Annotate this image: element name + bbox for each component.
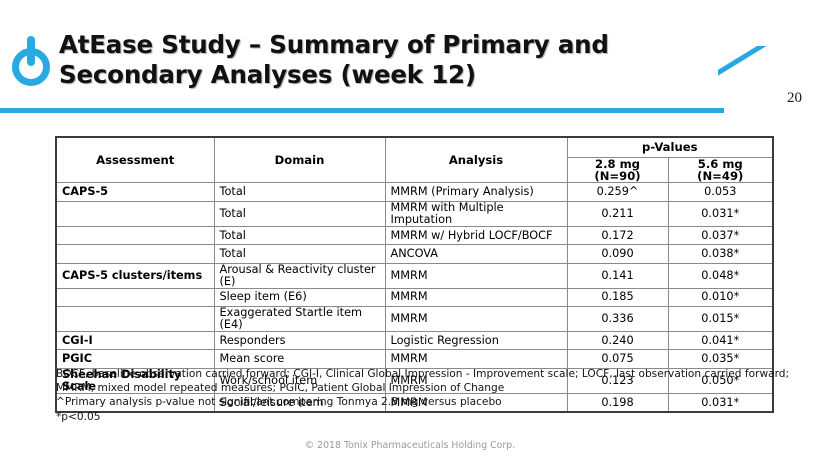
table-row: TotalMMRM with Multiple Imputation0.2110… — [56, 201, 773, 226]
table-header: Assessment Domain Analysis p-Values 2.8 … — [56, 137, 773, 183]
cell-pvalue-2-8mg: 0.141 — [567, 263, 668, 288]
column-header-analysis: Analysis — [385, 137, 567, 183]
cell-pvalue-5-6mg: 0.010* — [668, 288, 773, 307]
cell-pvalue-5-6mg: 0.035* — [668, 350, 773, 369]
cell-domain: Responders — [214, 331, 385, 350]
cell-assessment — [56, 288, 214, 307]
cell-pvalue-2-8mg: 0.336 — [567, 307, 668, 332]
cell-pvalue-2-8mg: 0.185 — [567, 288, 668, 307]
copyright-notice: © 2018 Tonix Pharmaceuticals Holding Cor… — [0, 440, 820, 451]
table-row: CAPS-5 clusters/itemsArousal & Reactivit… — [56, 263, 773, 288]
cell-domain: Total — [214, 245, 385, 264]
cell-pvalue-2-8mg: 0.172 — [567, 226, 668, 245]
cell-assessment: CGI-I — [56, 331, 214, 350]
cell-pvalue-5-6mg: 0.037* — [668, 226, 773, 245]
table-header-row-main: Assessment Domain Analysis p-Values — [56, 137, 773, 158]
footnotes: BOCF, baseline observation carried forwa… — [56, 367, 796, 424]
table-row: CGI-IRespondersLogistic Regression0.2400… — [56, 331, 773, 350]
cell-pvalue-2-8mg: 0.211 — [567, 201, 668, 226]
footnote-line: *p<0.05 — [56, 410, 796, 424]
cell-assessment — [56, 201, 214, 226]
cell-analysis: MMRM w/ Hybrid LOCF/BOCF — [385, 226, 567, 245]
table-row: Sleep item (E6)MMRM0.1850.010* — [56, 288, 773, 307]
cell-domain: Total — [214, 201, 385, 226]
cell-domain: Exaggerated Startle item (E4) — [214, 307, 385, 332]
cell-domain: Total — [214, 226, 385, 245]
column-header-assessment: Assessment — [56, 137, 214, 183]
cell-pvalue-5-6mg: 0.038* — [668, 245, 773, 264]
cell-analysis: MMRM — [385, 263, 567, 288]
header-accent-rule-diagonal-bar — [718, 46, 820, 79]
table-row: Exaggerated Startle item (E4)MMRM0.3360.… — [56, 307, 773, 332]
cell-pvalue-2-8mg: 0.240 — [567, 331, 668, 350]
cell-assessment: CAPS-5 — [56, 183, 214, 202]
cell-analysis: ANCOVA — [385, 245, 567, 264]
cell-domain: Mean score — [214, 350, 385, 369]
column-header-pvalues: p-Values — [567, 137, 773, 158]
cell-analysis: MMRM — [385, 288, 567, 307]
cell-pvalue-2-8mg: 0.259^ — [567, 183, 668, 202]
cell-assessment — [56, 307, 214, 332]
cell-assessment — [56, 226, 214, 245]
cell-domain: Sleep item (E6) — [214, 288, 385, 307]
cell-pvalue-5-6mg: 0.041* — [668, 331, 773, 350]
cell-assessment: CAPS-5 clusters/items — [56, 263, 214, 288]
cell-pvalue-5-6mg: 0.048* — [668, 263, 773, 288]
slide-header: AtEase Study – Summary of Primary and Se… — [0, 0, 820, 120]
table-row: TotalMMRM w/ Hybrid LOCF/BOCF0.1720.037* — [56, 226, 773, 245]
column-header-dose-high: 5.6 mg (N=49) — [668, 158, 773, 183]
cell-assessment: PGIC — [56, 350, 214, 369]
cell-analysis: MMRM — [385, 350, 567, 369]
header-accent-rule-horizontal — [0, 108, 724, 113]
cell-pvalue-2-8mg: 0.090 — [567, 245, 668, 264]
cell-domain: Arousal & Reactivity cluster (E) — [214, 263, 385, 288]
page-number: 20 — [787, 90, 802, 107]
footnote-line: BOCF, baseline observation carried forwa… — [56, 367, 796, 381]
power-icon-stem — [27, 36, 35, 66]
cell-pvalue-5-6mg: 0.015* — [668, 307, 773, 332]
cell-analysis: MMRM with Multiple Imputation — [385, 201, 567, 226]
header-accent-rule-diagonal — [718, 46, 820, 113]
table-row: TotalANCOVA0.0900.038* — [56, 245, 773, 264]
cell-pvalue-5-6mg: 0.031* — [668, 201, 773, 226]
column-header-domain: Domain — [214, 137, 385, 183]
table-row: CAPS-5TotalMMRM (Primary Analysis)0.259^… — [56, 183, 773, 202]
cell-assessment — [56, 245, 214, 264]
table-row: PGICMean scoreMMRM0.0750.035* — [56, 350, 773, 369]
power-button-icon — [8, 36, 54, 88]
cell-pvalue-2-8mg: 0.075 — [567, 350, 668, 369]
cell-analysis: MMRM — [385, 307, 567, 332]
cell-analysis: MMRM (Primary Analysis) — [385, 183, 567, 202]
cell-domain: Total — [214, 183, 385, 202]
footnote-line: ^Primary analysis p-value not significan… — [56, 395, 796, 409]
page-title: AtEase Study – Summary of Primary and Se… — [59, 30, 639, 89]
cell-pvalue-5-6mg: 0.053 — [668, 183, 773, 202]
column-header-dose-low: 2.8 mg (N=90) — [567, 158, 668, 183]
cell-analysis: Logistic Regression — [385, 331, 567, 350]
footnote-line: MMRM, mixed model repeated measures; PGI… — [56, 381, 796, 395]
